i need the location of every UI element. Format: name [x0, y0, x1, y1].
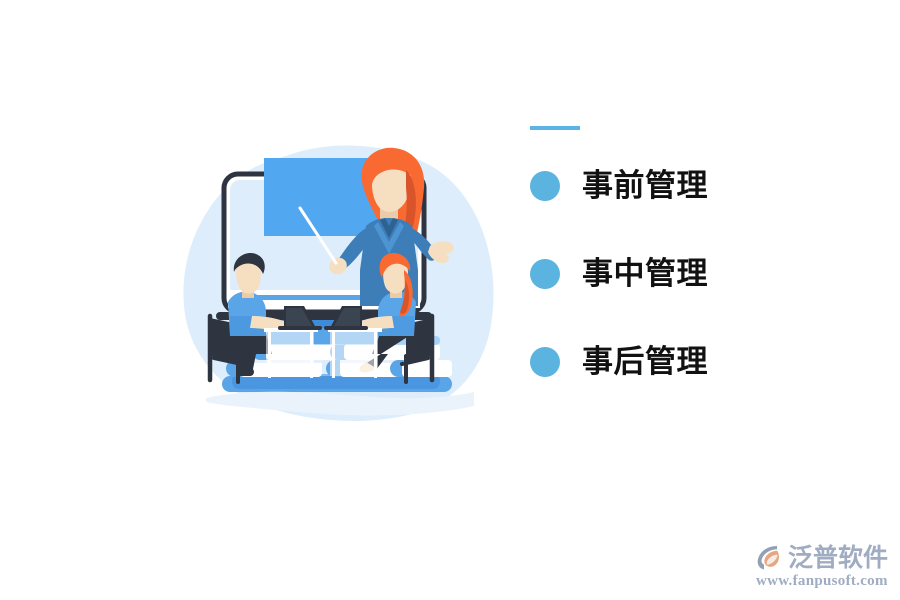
filled-circle-icon [530, 171, 560, 201]
online-classroom-illustration [180, 130, 500, 430]
logo-row: 泛普软件 [754, 542, 888, 572]
filled-circle-icon [530, 347, 560, 377]
list-item[interactable]: 事中管理 [530, 252, 860, 296]
list-item-label: 事中管理 [582, 259, 708, 290]
accent-rule [530, 126, 580, 130]
desk-right [328, 328, 382, 378]
list-item-label: 事前管理 [582, 171, 708, 202]
content-column: 事前管理 事中管理 事后管理 [530, 126, 860, 384]
desk-left [264, 328, 318, 378]
list-item[interactable]: 事前管理 [530, 164, 860, 208]
list-item-label: 事后管理 [582, 347, 708, 378]
list-item[interactable]: 事后管理 [530, 340, 860, 384]
filled-circle-icon [530, 259, 560, 289]
watermark-logo: 泛普软件 www.fanpusoft.com [754, 542, 888, 590]
logo-url: www.fanpusoft.com [756, 573, 888, 590]
fanpu-c-swoosh-icon [754, 542, 784, 572]
logo-wordmark: 泛普软件 [788, 545, 888, 570]
management-phase-list: 事前管理 事中管理 事后管理 [530, 164, 860, 384]
